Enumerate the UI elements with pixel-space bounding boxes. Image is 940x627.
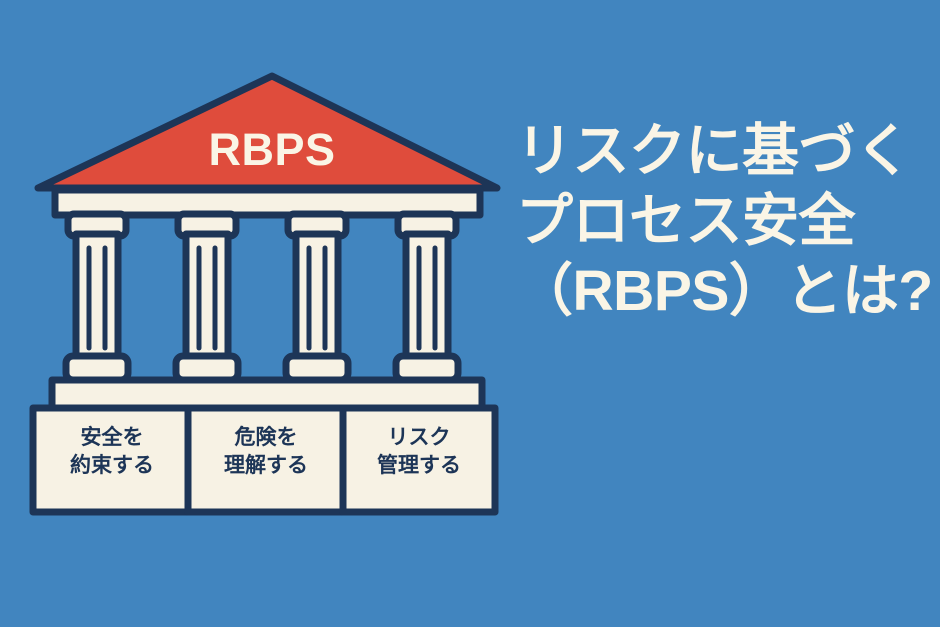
column-shaft <box>76 234 118 360</box>
column-3 <box>286 214 348 380</box>
foundation-box-label-2-line-1: リスク <box>344 424 494 452</box>
column-shaft <box>296 234 338 360</box>
headline: リスクに基づく プロセス安全 （RBPS）とは? <box>516 116 928 326</box>
foundation-box-label-0: 安全を 約束する <box>36 424 188 480</box>
temple-stylobate-group <box>52 380 482 408</box>
foundation-box-label-1-line-1: 危険を <box>190 424 342 452</box>
headline-line-2: プロセス安全 <box>516 186 928 256</box>
column-1 <box>66 214 128 380</box>
slide-canvas: RBPS 安全を 約束する 危険を 理解する リスク 管理する リスクに基づく … <box>0 0 940 627</box>
headline-line-1: リスクに基づく <box>516 116 928 186</box>
column-4 <box>396 214 458 380</box>
column-shaft <box>186 234 228 360</box>
foundation-box-label-0-line-1: 安全を <box>36 424 188 452</box>
column-base <box>176 356 238 380</box>
foundation-box-label-1-line-2: 理解する <box>190 452 342 480</box>
foundation-box-label-0-line-2: 約束する <box>36 452 188 480</box>
pediment-label: RBPS <box>182 124 362 176</box>
column-2 <box>176 214 238 380</box>
foundation-box-label-2-line-2: 管理する <box>344 452 494 480</box>
column-shaft <box>406 234 448 360</box>
headline-line-3: （RBPS）とは? <box>516 256 928 326</box>
column-base <box>286 356 348 380</box>
foundation-box-label-1: 危険を 理解する <box>190 424 342 480</box>
column-base <box>66 356 128 380</box>
temple-columns-group <box>66 214 458 380</box>
foundation-box-label-2: リスク 管理する <box>344 424 494 480</box>
column-base <box>396 356 458 380</box>
upper-step <box>52 380 482 408</box>
